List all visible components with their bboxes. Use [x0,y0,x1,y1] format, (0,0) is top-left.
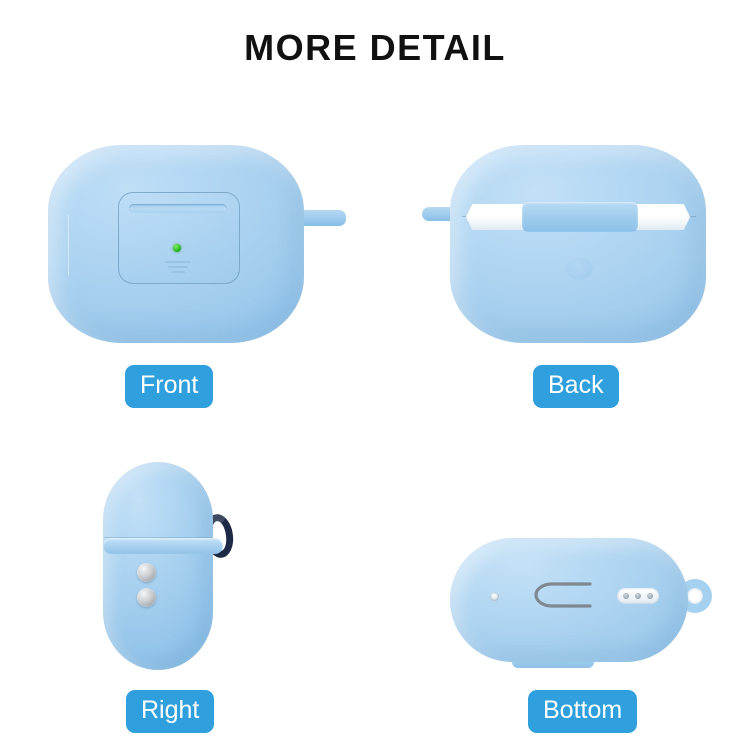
right-stage [75,450,285,682]
charging-port-cutout-icon [526,576,600,614]
case-body-back [450,145,706,343]
seam-line [68,215,69,275]
speaker-holes-icon [617,588,659,604]
hinge-assembly [452,202,704,232]
product-detail-page: MORE DETAIL Front [0,0,750,750]
product-view-front [30,140,370,355]
product-view-right [75,450,285,682]
product-view-bottom [440,520,730,680]
button-cutout-lower-icon [137,588,156,607]
strap-tab-icon [302,210,346,226]
silicone-hinge-band [522,202,638,232]
horizontal-slot [129,204,227,213]
led-indicator-icon [173,244,181,252]
bottom-stage [440,520,730,680]
screw-dot-icon [490,592,499,601]
view-label-bottom: Bottom [528,690,637,733]
case-body-right [103,462,213,670]
pairing-button-indent [566,258,593,280]
hinge-band [103,538,223,554]
speaker-grille-icon [163,261,193,277]
view-label-front: Front [125,365,213,408]
button-cutout-upper-icon [137,563,156,582]
page-title: MORE DETAIL [0,27,750,69]
product-view-back [418,140,750,355]
view-label-right: Right [126,690,214,733]
back-stage [418,140,750,355]
front-stage [30,140,370,355]
view-label-back: Back [533,365,619,408]
